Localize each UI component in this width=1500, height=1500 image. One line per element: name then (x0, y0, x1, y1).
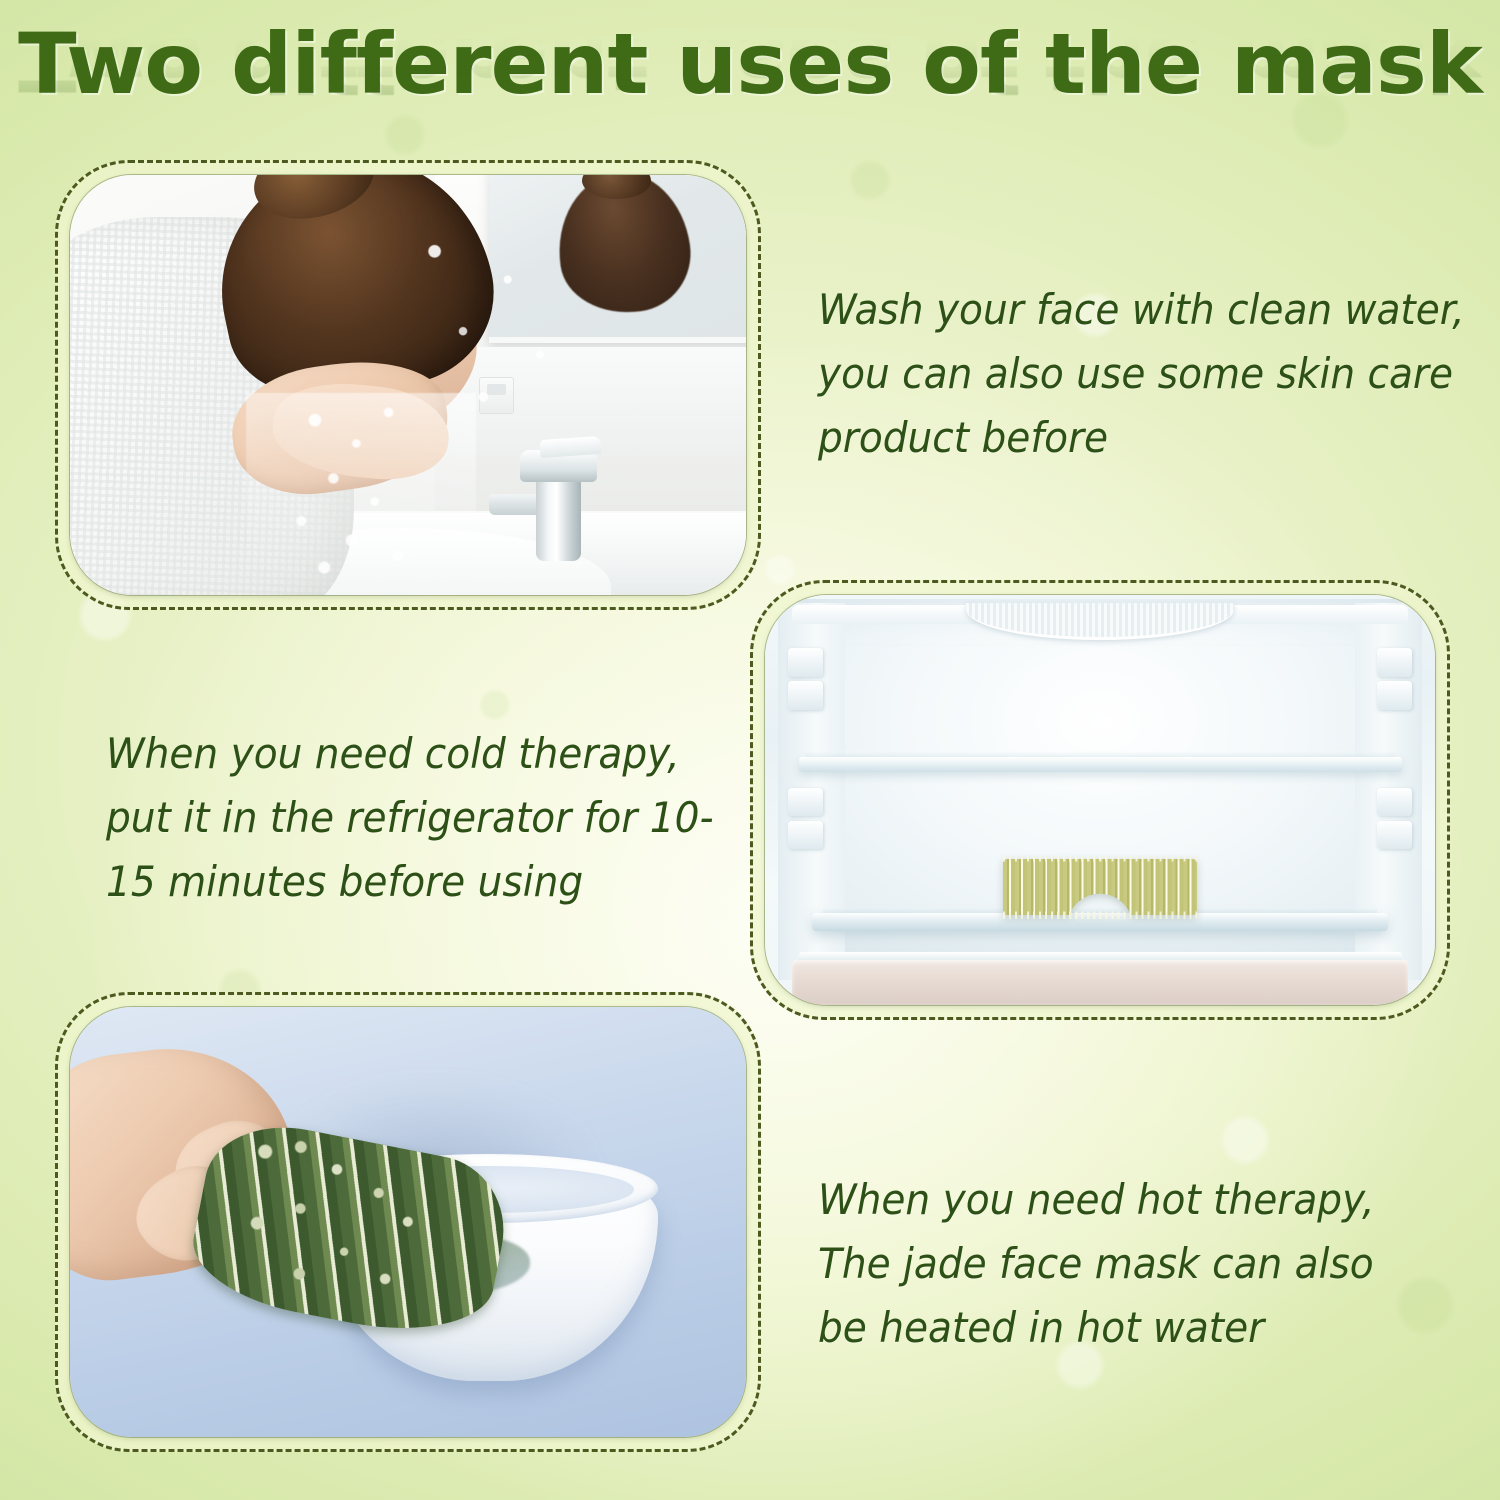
jade-eye-mask-in-fridge (1003, 859, 1197, 914)
caption-hot-therapy: When you need hot therapy, The jade face… (818, 1168, 1413, 1359)
shelf-rail-right-4 (1377, 821, 1412, 850)
infographic-page: Two different uses of the mask Two diffe… (0, 0, 1500, 1500)
caption-wash-face: Wash your face with clean water, you can… (818, 278, 1469, 469)
photo-refrigerator (765, 595, 1435, 1005)
shelf-rail-left-1 (788, 648, 823, 677)
faucet-spout (489, 494, 543, 515)
shelf-rail-left-2 (788, 681, 823, 710)
shelf-rail-right-3 (1377, 788, 1412, 817)
photo-panel-wash-face (55, 160, 761, 610)
shelf-rail-left-4 (788, 821, 823, 850)
water-droplets (394, 209, 597, 444)
photo-panel-hot-water-bowl (55, 992, 761, 1452)
refrigerator-upper-shelf (799, 757, 1402, 772)
refrigerator-bottom-drawer (792, 960, 1408, 1005)
photo-wash-face (70, 175, 746, 595)
page-title-block: Two different uses of the mask Two diffe… (0, 22, 1500, 186)
shelf-rail-right-2 (1377, 681, 1412, 710)
refrigerator-scene (765, 595, 1435, 1005)
shelf-rail-left-3 (788, 788, 823, 817)
bowl-scene (70, 1007, 746, 1437)
photo-panel-refrigerator (750, 580, 1450, 1020)
photo-hot-water-bowl (70, 1007, 746, 1437)
bathroom-scene (70, 175, 746, 595)
shelf-rail-right-1 (1377, 648, 1412, 677)
jade-bead-trim (1003, 856, 1197, 919)
caption-cold-therapy: When you need cold therapy, put it in th… (106, 722, 720, 913)
page-title-reflection: Two different uses of the mask (0, 18, 1500, 102)
